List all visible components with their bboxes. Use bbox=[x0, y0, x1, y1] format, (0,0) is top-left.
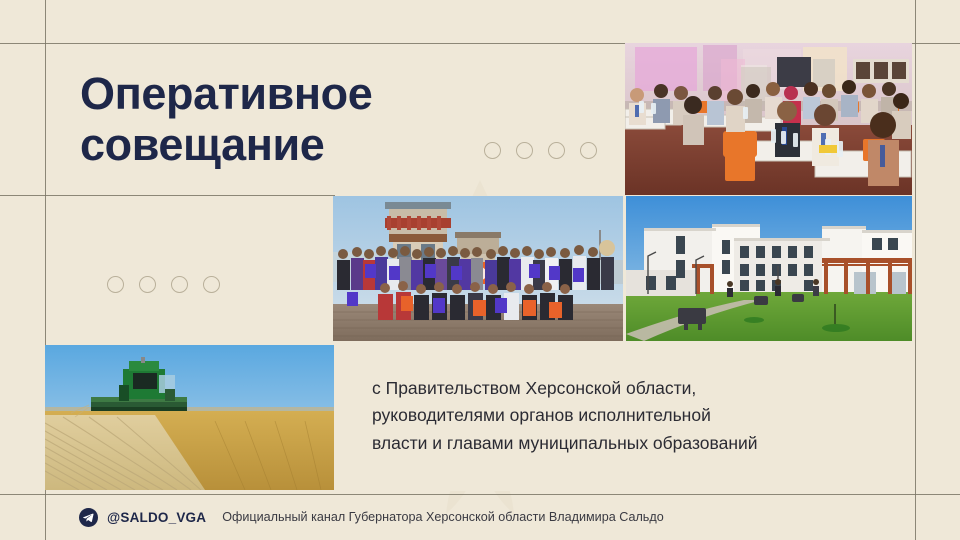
circle-icon bbox=[139, 276, 156, 293]
circle-icon bbox=[580, 142, 597, 159]
dot-row-left-decoration bbox=[107, 276, 220, 293]
modern-building-complex-photo bbox=[626, 196, 912, 341]
footer-bar: @SALDO_VGA Официальный канал Губернатора… bbox=[45, 494, 915, 540]
dot-row-title-decoration bbox=[484, 142, 597, 159]
youth-group-photo bbox=[333, 196, 623, 341]
conference-room-audience-photo bbox=[625, 43, 912, 195]
combine-harvester-wheat-field-photo bbox=[45, 345, 334, 490]
circle-icon bbox=[484, 142, 501, 159]
telegram-handle[interactable]: @SALDO_VGA bbox=[107, 510, 206, 525]
circle-icon bbox=[171, 276, 188, 293]
circle-icon bbox=[203, 276, 220, 293]
grid-line-vertical-right bbox=[915, 0, 916, 540]
slide-title-line-2: совещание bbox=[80, 119, 510, 170]
footer-description: Официальный канал Губернатора Херсонской… bbox=[222, 510, 664, 524]
circle-icon bbox=[107, 276, 124, 293]
subtitle-text: с Правительством Херсонской области, рук… bbox=[336, 375, 774, 456]
subtitle-panel: с Правительством Херсонской области, рук… bbox=[336, 341, 914, 491]
grid-line-horizontal-mid bbox=[0, 195, 335, 196]
slide-title-line-1: Оперативное bbox=[80, 68, 372, 119]
slide-title: Оперативное совещание bbox=[80, 68, 510, 171]
circle-icon bbox=[548, 142, 565, 159]
telegram-icon[interactable] bbox=[79, 508, 98, 527]
presentation-slide: Оперативное совещание bbox=[0, 0, 960, 540]
circle-icon bbox=[516, 142, 533, 159]
